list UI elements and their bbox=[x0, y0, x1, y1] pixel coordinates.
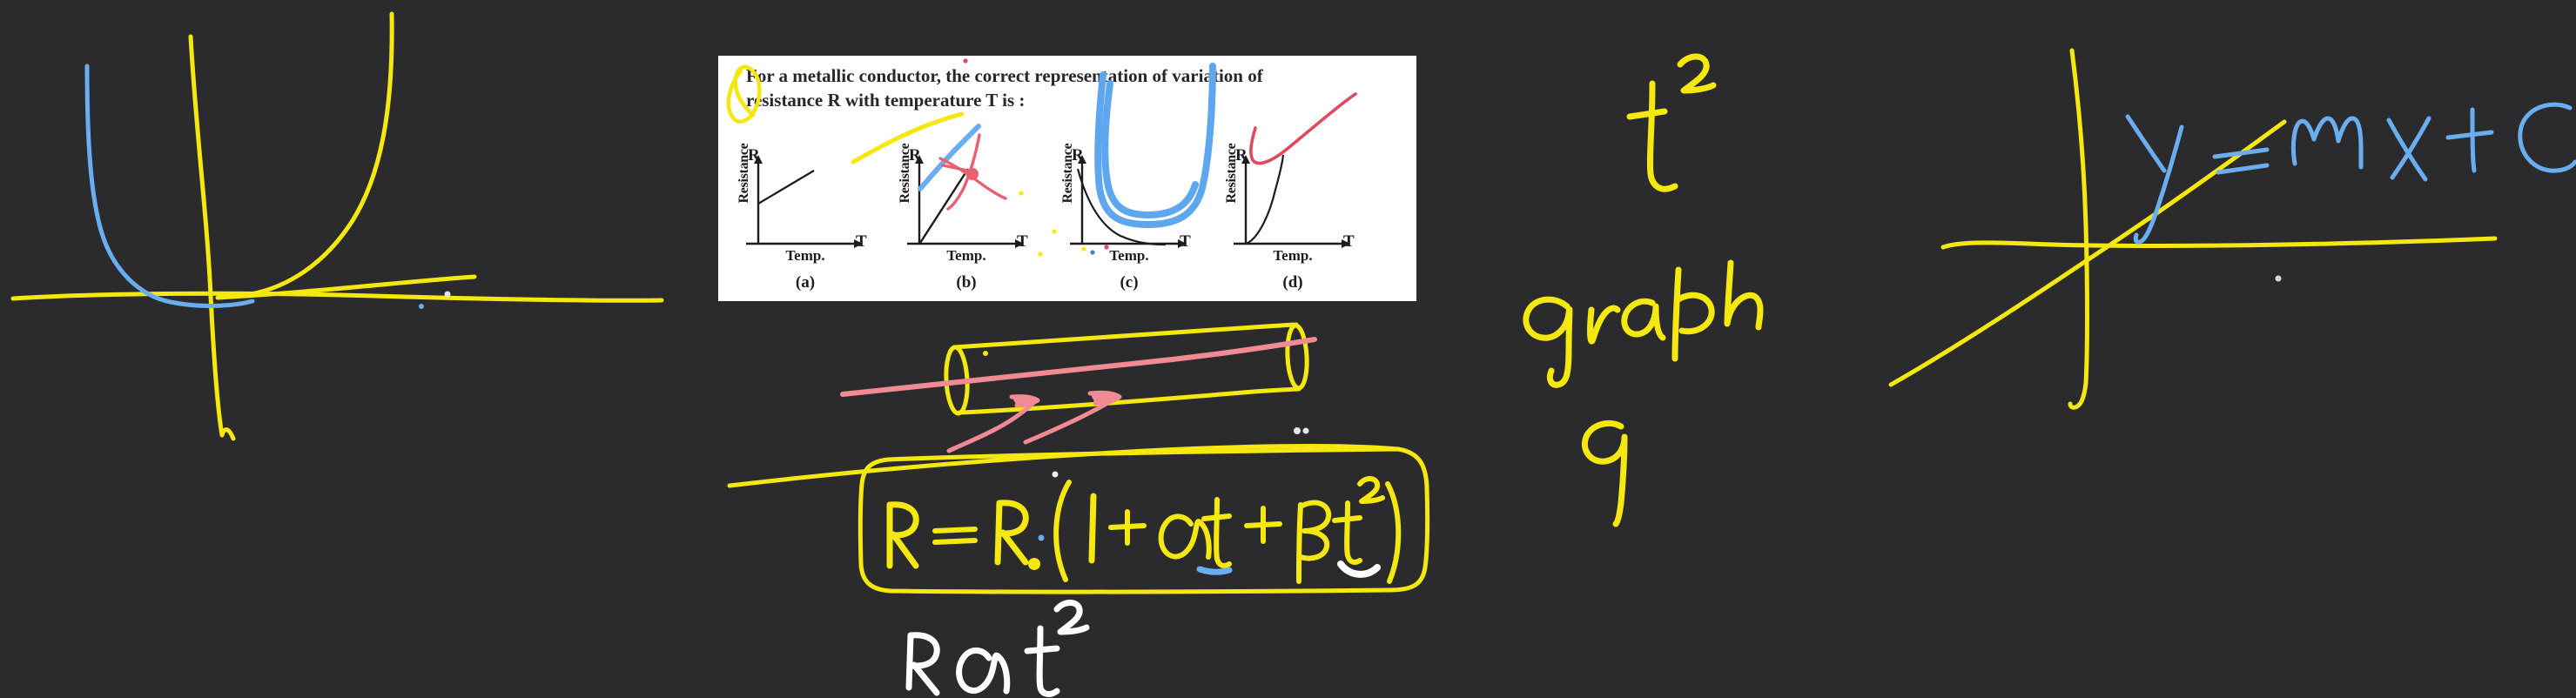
formula-glyph-R-leg bbox=[893, 534, 916, 566]
formula-glyph-exponent-two bbox=[1360, 479, 1382, 501]
formula-glyph-t2-cross bbox=[1335, 518, 1360, 520]
formula-glyph-open-paren bbox=[1056, 482, 1069, 580]
question-image-card[interactable]: For a metallic conductor, the correct re… bbox=[718, 56, 1416, 301]
left-x-axis-stroke bbox=[13, 293, 662, 300]
eq-glyph-x-1 bbox=[2389, 120, 2425, 179]
prop-glyph-t-cross bbox=[1027, 648, 1057, 651]
formula-glyph-t2-vert bbox=[1347, 503, 1360, 562]
formula-glyph-beta bbox=[1299, 503, 1328, 581]
eq-glyph-equals-bottom bbox=[2218, 165, 2267, 172]
eq-glyph-x-2 bbox=[2392, 118, 2429, 178]
formula-glyph-t1-vert bbox=[1216, 500, 1229, 566]
pink-dot-panel-b bbox=[966, 168, 979, 180]
pink-arrow-1-head bbox=[1012, 397, 1038, 406]
formula-glyph-equals-bottom bbox=[935, 540, 975, 542]
stray-dot-mid-yellow bbox=[1303, 428, 1309, 434]
formula-box-outline bbox=[860, 449, 1427, 592]
formula-glyph-R0-vert bbox=[998, 503, 999, 562]
note-graph-h bbox=[1727, 263, 1760, 327]
blue-u-curve-inner bbox=[1105, 84, 1195, 215]
card-dot-yellow-3 bbox=[1038, 252, 1042, 256]
pink-arrow-1 bbox=[949, 400, 1036, 451]
formula-glyph-R0-subscript bbox=[1028, 558, 1040, 570]
alpha-t-blue-underline bbox=[1200, 569, 1229, 572]
formula-glyph-plus2-h bbox=[1247, 524, 1280, 526]
eq-glyph-m bbox=[2293, 118, 2361, 167]
formula-glyph-t1-cross bbox=[1204, 516, 1229, 519]
note-graph-p bbox=[1675, 270, 1712, 359]
stray-dot-cylinder-yellow bbox=[983, 351, 988, 356]
formula-box-lead-line bbox=[730, 446, 1398, 486]
whiteboard-canvas[interactable]: For a metallic conductor, the correct re… bbox=[0, 0, 2576, 698]
card-dot-yellow-2 bbox=[1052, 229, 1056, 233]
note-graph-r bbox=[1591, 308, 1618, 341]
card-annotation-layer bbox=[718, 56, 1416, 301]
formula-stray-dot bbox=[1053, 472, 1059, 478]
beta-t2-white-arc bbox=[1341, 564, 1377, 574]
note-t-exponent-two bbox=[1680, 57, 1713, 91]
formula-glyph-alpha bbox=[1161, 516, 1209, 557]
formula-glyph-R0-leg bbox=[1003, 533, 1026, 562]
eq-glyph-plus-v bbox=[2472, 110, 2474, 171]
stray-dot-left-blue-a bbox=[419, 304, 424, 309]
stray-dot-right-yellow bbox=[2276, 276, 2282, 282]
card-dot-yellow-4 bbox=[1081, 246, 1086, 251]
left-parabola-blue bbox=[87, 66, 252, 305]
prop-glyph-alpha bbox=[959, 650, 1007, 691]
formula-glyph-equals-top bbox=[935, 529, 975, 531]
eq-glyph-plus-h bbox=[2448, 132, 2492, 138]
left-parabola-yellow bbox=[251, 14, 392, 294]
left-y-axis-stroke bbox=[191, 37, 233, 439]
prop-glyph-R-bowl bbox=[911, 635, 937, 666]
card-dot-crimson-2 bbox=[963, 58, 967, 63]
left-x-axis-stroke-right bbox=[218, 277, 474, 298]
pink-arrow-2-head bbox=[1090, 393, 1120, 403]
pink-current-line bbox=[843, 339, 1315, 394]
note-t-vertical bbox=[1650, 84, 1675, 189]
formula-glyph-R-bowl bbox=[890, 505, 916, 535]
stray-dot-left-blue-b bbox=[445, 292, 451, 298]
card-dot-yellow-1 bbox=[1019, 191, 1023, 195]
card-dot-crimson-1 bbox=[1104, 245, 1108, 249]
crimson-parabola-sketch bbox=[1251, 94, 1355, 164]
card-dot-blue-1 bbox=[1090, 250, 1094, 254]
formula-glyph-one bbox=[1092, 496, 1093, 560]
prop-glyph-R-vert bbox=[909, 635, 911, 688]
note-t-crossbar bbox=[1630, 111, 1665, 117]
right-x-axis-stroke bbox=[1943, 238, 2495, 247]
cylinder-top-edge bbox=[954, 325, 1296, 347]
pink-arrow-2 bbox=[1026, 397, 1118, 442]
prop-glyph-R-leg bbox=[914, 665, 937, 693]
formula-glyph-R0-bowl bbox=[999, 503, 1026, 534]
eq-glyph-equals-top bbox=[2215, 150, 2267, 157]
formula-glyph-plus1-h bbox=[1111, 526, 1144, 527]
note-graph-a bbox=[1624, 301, 1663, 338]
cylinder-bottom-edge bbox=[959, 389, 1299, 413]
note-letter-q bbox=[1584, 423, 1624, 524]
eq-glyph-y-right bbox=[2135, 127, 2182, 242]
yellow-slash-annotation bbox=[853, 114, 962, 162]
formula-stray-dot-2 bbox=[1039, 535, 1045, 541]
right-slope-line bbox=[1891, 122, 2284, 385]
stray-dot-above-box bbox=[1294, 427, 1301, 434]
eq-glyph-c bbox=[2520, 104, 2575, 171]
right-y-axis-stroke bbox=[2070, 50, 2088, 407]
prop-glyph-exponent-two bbox=[1057, 603, 1086, 633]
cylinder-left-cap bbox=[945, 346, 969, 413]
formula-glyph-close-paren bbox=[1388, 484, 1398, 581]
question-circle-mark-icon bbox=[729, 67, 759, 122]
cylinder-right-cap bbox=[1286, 325, 1308, 388]
note-graph-g bbox=[1526, 299, 1570, 385]
prop-glyph-t-vert bbox=[1039, 628, 1057, 694]
eq-glyph-y-left bbox=[2128, 117, 2164, 171]
